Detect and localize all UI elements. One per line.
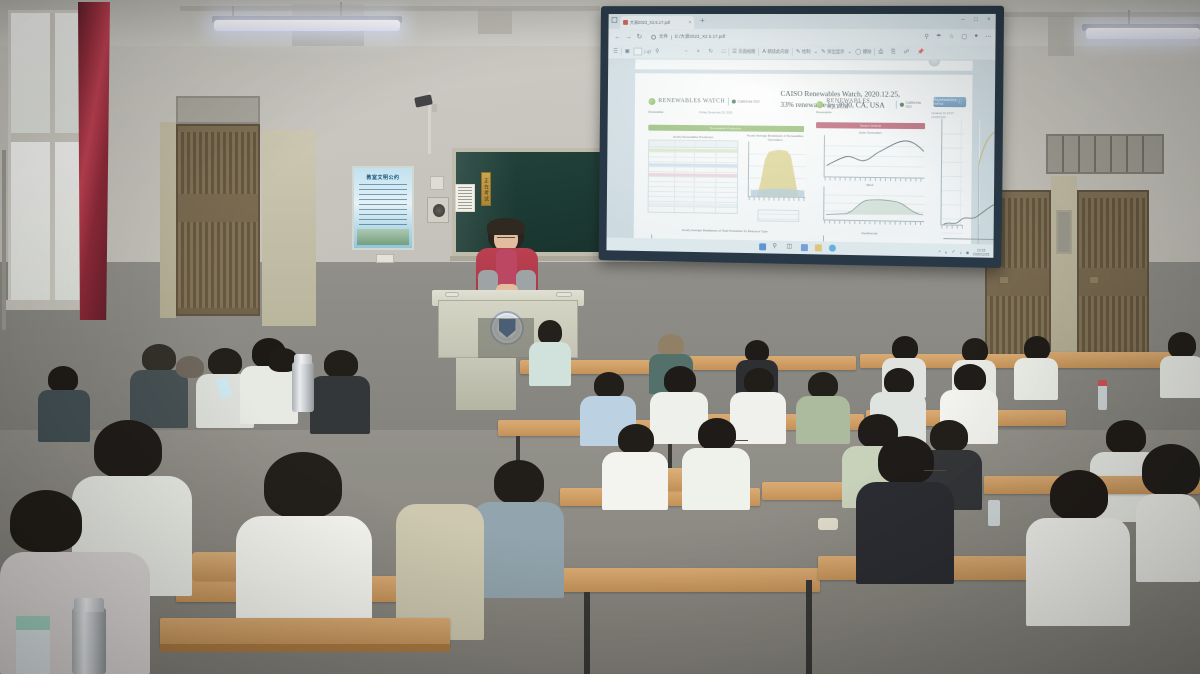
ceiling-beam-left — [180, 6, 600, 11]
student-row3-1 — [602, 424, 668, 504]
renewables-watch-header-mid: RENEWABLES WATCH California ISO — [816, 98, 927, 111]
transom-bar-3 — [1094, 136, 1096, 172]
toolbar-item-draw-label: 绘制 — [802, 49, 811, 55]
zoom-icon[interactable]: ⚲ — [924, 33, 929, 40]
page-total-label: / 47 — [644, 49, 651, 54]
report-panel-left: RENEWABLES WATCH California ISO Renewabl… — [641, 97, 808, 239]
back-arrow-icon[interactable]: ← — [614, 34, 621, 41]
student-hair — [892, 336, 918, 360]
panel-mid-band: Today's Outlook — [816, 122, 925, 129]
renewables-generation-chart — [748, 141, 806, 198]
header-divider-mid — [896, 101, 897, 109]
poster-title: 教室文明公约 — [354, 174, 412, 181]
exam-plaque-label: 正在考试 — [482, 173, 490, 205]
student-hair — [48, 366, 78, 392]
solar-generation-chart — [824, 135, 925, 178]
right-door-center-pillar — [1051, 176, 1077, 362]
zoom-out-icon[interactable]: − — [684, 49, 687, 55]
podium-control-button[interactable] — [445, 292, 459, 297]
desk-row4-mid — [560, 568, 820, 592]
network-icon[interactable]: ◐ — [945, 249, 948, 254]
report-panel-right: ‹ Renewables trend ⓘ Updated 10:15:07 12… — [930, 119, 968, 242]
student-glasses — [924, 470, 946, 473]
water-bottle — [1098, 384, 1107, 410]
panel-left-paragraph-2 — [648, 119, 804, 124]
right-door-right-slats-upper — [1079, 198, 1147, 268]
student-shirt — [1160, 356, 1200, 398]
student-row4-4 — [1136, 444, 1200, 574]
speaker-cone — [433, 204, 445, 217]
student-hair — [808, 372, 838, 398]
student-hair — [594, 372, 624, 398]
student-row4-2 — [856, 436, 954, 576]
student-hair — [494, 460, 544, 504]
hourly-renewables-table — [648, 139, 739, 214]
address-separator: | — [671, 34, 672, 39]
reload-icon[interactable]: ↻ — [637, 34, 643, 41]
panel-left-summary-table — [757, 209, 799, 222]
student-hair — [1142, 444, 1200, 496]
student-hair — [94, 420, 162, 478]
projection-screen[interactable]: 大源2023_X2.5.17.pdf × + – □ × ← → ↻ 文件 | — [606, 14, 995, 258]
transom-bar-1 — [1062, 136, 1064, 172]
erase-icon: ◯ — [855, 49, 861, 55]
leaf-icon — [816, 101, 823, 108]
mint-bottle — [16, 626, 50, 674]
panel-left-table-footnote-2 — [647, 218, 737, 223]
student-hair — [962, 338, 988, 362]
toolbar-item-page-view-label: 页面视图 — [738, 49, 755, 55]
toolbar-item-highlight[interactable]: ✎ 突出显示 — [821, 49, 844, 55]
panel-left-date: Friday, December 25, 2020 — [699, 110, 732, 114]
toolbar-item-draw[interactable]: ✎ 绘制 — [796, 49, 811, 55]
student-hair — [744, 368, 774, 394]
wall-notice — [455, 184, 475, 212]
battery-icon[interactable]: ■ — [966, 250, 969, 255]
student-shirt — [1014, 358, 1058, 400]
student-shirt — [602, 452, 668, 510]
camera-mount — [432, 104, 437, 112]
more-icon[interactable]: ⋯ — [985, 33, 991, 40]
wall-notice-lines — [458, 187, 472, 209]
print-icon[interactable]: ⎙ — [879, 49, 884, 56]
toolbar-item-erase-label: 擦除 — [863, 49, 872, 55]
share-icon[interactable]: ☍ — [904, 49, 910, 55]
exam-plaque: 正在考试 — [481, 172, 491, 206]
student-front-1 — [236, 452, 372, 638]
trend-updated-label: Updated 10:15:07 12/25/2020 — [931, 111, 962, 119]
new-tab-icon[interactable]: + — [700, 17, 705, 25]
report-operator-mid: California ISO — [900, 101, 928, 109]
student-shirt — [529, 342, 571, 386]
student-hair — [954, 364, 986, 392]
panel-left-band-label: Renewables Production — [710, 126, 741, 130]
toolbar-item-page-view[interactable]: ☰ 页面视图 — [732, 49, 755, 55]
system-tray: ^ ◐ ✓ ♪ ■ 10:15 2020/12/25 — [939, 248, 990, 257]
thermos-flask-front — [72, 608, 106, 674]
student-hair — [538, 320, 562, 344]
wall-switch[interactable] — [430, 176, 444, 190]
window-controls: – □ × — [961, 17, 990, 23]
explorer-icon[interactable] — [800, 244, 807, 251]
chevron-up-icon[interactable]: ^ — [939, 249, 941, 254]
search-icon[interactable]: ⚲ — [773, 244, 780, 251]
student-backleft-5 — [310, 350, 370, 430]
renewables-watch-header-left: RENEWABLES WATCH California ISO — [649, 97, 760, 106]
renewables-trend-band: ‹ Renewables trend ⓘ — [933, 97, 966, 107]
panel-left-band: Renewables Production — [648, 125, 804, 132]
student-hair — [10, 490, 82, 552]
address-path: E:/大源2023_X2.5.17.pdf — [675, 34, 725, 40]
student-hair — [618, 424, 654, 454]
desk-tissue — [818, 518, 838, 530]
page-view-icon: ☰ — [732, 49, 737, 55]
leaf-icon — [649, 98, 656, 105]
report-operator-left-label: California ISO — [737, 100, 759, 104]
solar-x-ticks — [825, 176, 925, 181]
draw-icon: ✎ — [796, 49, 801, 55]
pdf-favicon — [623, 20, 628, 25]
poster-text-lines — [359, 184, 407, 226]
left-transom — [176, 96, 260, 124]
student-hair — [176, 356, 204, 378]
report-brand-left: RENEWABLES WATCH — [658, 98, 725, 104]
volume-icon[interactable]: ♪ — [960, 250, 962, 255]
transom-bar-5 — [1126, 136, 1128, 172]
student-row3-2 — [682, 418, 750, 504]
browser-icon[interactable] — [828, 245, 835, 252]
ceiling-fluorescent-right — [1086, 28, 1200, 39]
desk-leg — [806, 580, 812, 674]
minimize-icon[interactable]: – — [961, 17, 964, 23]
highlight-icon: ✎ — [821, 49, 826, 55]
folder-icon[interactable] — [814, 244, 821, 251]
lecturer-fringe — [487, 218, 525, 235]
left-wall-column — [262, 130, 316, 326]
student-hair — [884, 368, 914, 394]
ceiling-patch-right — [1048, 16, 1074, 56]
left-door-frame — [160, 122, 176, 318]
student-hair — [745, 340, 769, 362]
clock-date: 2020/12/25 — [973, 252, 989, 256]
renewables-generation-series — [749, 142, 807, 199]
highlight-color-chevron-down-icon[interactable]: ⌄ — [847, 49, 852, 55]
right-transom-window — [1046, 134, 1164, 174]
right-door-left-handle[interactable] — [999, 276, 1009, 284]
browser-system-icon — [611, 17, 617, 23]
close-tab-icon[interactable]: × — [688, 19, 691, 25]
pdf-toolbar: ☰ ▣ / 47 ⚲ − + ↻ □ ☰ 页面视图 — [608, 45, 995, 61]
left-door-slats-lower — [178, 222, 258, 308]
student-row1-7 — [1160, 332, 1200, 390]
student-shirt — [1136, 494, 1200, 582]
student-hair — [264, 452, 342, 518]
trend-x-ticks — [941, 224, 963, 228]
thumbnail-icon[interactable]: ▣ — [625, 49, 630, 55]
browser-tab-bar: 大源2023_X2.5.17.pdf × + – □ × — [609, 14, 996, 29]
transom-bar-2 — [1078, 136, 1080, 172]
lecture-hall-scene: 教室文明公约 正在考试 — [0, 0, 1200, 674]
student-row4-1 — [472, 460, 564, 590]
address-scheme: 文件 — [659, 34, 668, 40]
wall-speaker — [427, 197, 449, 223]
student-hair — [878, 436, 934, 484]
poster-photo — [357, 229, 409, 245]
right-door-right-slats-lower — [1079, 296, 1147, 358]
caiso-icon — [732, 100, 736, 104]
favorite-icon[interactable]: ☆ — [949, 33, 955, 40]
read-aloud-icon: A — [762, 49, 766, 55]
header-divider-left — [728, 98, 729, 106]
panel-mid-band-label: Today's Outlook — [860, 124, 881, 128]
right-door-pillar-window — [1056, 210, 1072, 254]
profile-icon[interactable]: ● — [974, 33, 978, 40]
save-icon[interactable]: ⎘ — [891, 49, 896, 56]
right-door-right-handle[interactable] — [1089, 276, 1099, 284]
ceiling-fluorescent-left — [214, 20, 400, 31]
close-window-icon[interactable]: × — [987, 17, 991, 23]
draw-color-chevron-down-icon[interactable]: ⌄ — [813, 49, 818, 55]
caiso-icon — [900, 103, 904, 107]
wind-chart — [823, 186, 924, 222]
transom-bar-6 — [1142, 136, 1144, 172]
student-backleft-7 — [168, 356, 216, 400]
lecturer-inner-top — [496, 249, 517, 289]
pdf-previous-page — [635, 59, 972, 70]
curtain-pole — [2, 150, 6, 330]
left-door[interactable] — [176, 124, 260, 316]
translate-icon[interactable]: ☂ — [936, 33, 942, 40]
panel-left-area-title: Hourly Average Breakdown of Total Produc… — [647, 227, 803, 234]
forward-arrow-icon[interactable]: → — [625, 34, 632, 41]
window-curtain — [78, 2, 110, 320]
address-bar[interactable]: 文件 | E:/大源2023_X2.5.17.pdf — [651, 32, 920, 42]
podium-base — [456, 358, 516, 410]
ceiling-beam-right — [1000, 12, 1200, 17]
toolbar-item-read-aloud-label: 朗读此内容 — [767, 49, 788, 55]
fit-page-icon[interactable]: □ — [722, 49, 725, 55]
podium-shelf-shadow — [478, 318, 534, 358]
classroom-poster: 教室文明公约 — [352, 166, 414, 250]
taskbar-clock[interactable]: 10:15 2020/12/25 — [973, 248, 989, 256]
pin-icon[interactable]: 📌 — [917, 49, 924, 55]
window-mullion-v — [50, 13, 55, 307]
transom-bar-4 — [1110, 136, 1112, 172]
start-icon[interactable] — [759, 243, 766, 250]
desk-bottle-row3 — [988, 500, 1000, 526]
maximize-icon[interactable]: □ — [974, 17, 978, 23]
water-bottle-cap — [1098, 380, 1107, 386]
report-brand-mid: RENEWABLES WATCH — [826, 98, 893, 111]
nav-right-icons: ⚲ ☂ ☆ ▢ ● ⋯ — [924, 33, 991, 40]
student-hair — [1050, 470, 1108, 520]
light-rod-right — [1128, 10, 1130, 24]
student-shirt — [1026, 518, 1130, 626]
toolbar-item-read-aloud[interactable]: A 朗读此内容 — [762, 49, 789, 55]
student-shirt — [682, 448, 750, 510]
collections-icon[interactable]: ▢ — [961, 33, 967, 40]
trend-prev-chevron-icon[interactable]: ‹ — [937, 99, 939, 105]
browser-nav-bar: ← → ↻ 文件 | E:/大源2023_X2.5.17.pdf ⚲ ☂ ☆ ▢… — [608, 29, 995, 46]
student-front-4 — [396, 480, 484, 640]
podium-paper — [556, 292, 572, 297]
wind-legend — [815, 224, 924, 230]
student-row4-3 — [1026, 470, 1130, 620]
student-shirt — [472, 502, 564, 598]
desk-front-left-edge — [160, 644, 450, 652]
mint-bottle-cap — [16, 616, 50, 630]
student-row1-1 — [527, 320, 573, 380]
desk-leg — [584, 592, 590, 674]
panel-left-header-label: Renewables — [648, 110, 663, 114]
student-hair — [664, 366, 696, 394]
toolbar-item-highlight-label: 突出显示 — [827, 49, 844, 55]
ceiling-patch-mid — [478, 8, 512, 34]
task-view-icon[interactable]: ◫ — [786, 244, 793, 251]
student-glasses — [734, 440, 748, 443]
student-shirt — [856, 482, 954, 584]
sidebar-toggle-icon[interactable]: ☰ — [613, 49, 618, 55]
solar-series — [825, 135, 926, 178]
pdf-viewport[interactable]: CAISO Renewables Watch, 2020.12.25, 33% … — [607, 59, 996, 244]
chart-x-ticks — [749, 196, 806, 201]
student-hair — [324, 350, 358, 378]
wind-series — [824, 186, 925, 222]
pen-icon[interactable]: ✓ — [952, 249, 956, 255]
panel-left-chart-note — [744, 201, 806, 205]
find-icon[interactable]: ⚲ — [655, 49, 659, 55]
trend-info-icon[interactable]: ⓘ — [958, 99, 962, 105]
pdf-prev-seal — [929, 59, 940, 66]
right-door-right-leaf[interactable] — [1077, 190, 1149, 362]
page-number-input[interactable] — [634, 48, 643, 56]
student-row1-6 — [1012, 336, 1060, 392]
panel-mid-header-label: Renewables — [816, 110, 831, 114]
student-hair — [698, 418, 736, 450]
thermos-cap-front — [74, 598, 104, 612]
file-info-icon — [651, 34, 656, 39]
thermos-cap-back — [294, 354, 312, 364]
renewables-trend-chart — [940, 119, 964, 226]
student-hair — [658, 334, 684, 356]
table-total-row — [649, 203, 737, 208]
power-socket[interactable] — [376, 254, 394, 263]
report-operator-mid-label: California ISO — [905, 101, 927, 109]
left-door-slats-upper — [178, 132, 258, 194]
browser-tab[interactable]: 大源2023_X2.5.17.pdf × — [620, 16, 694, 29]
lecturer-glasses — [497, 237, 515, 240]
report-operator-left: California ISO — [732, 100, 760, 104]
zoom-in-icon[interactable]: + — [696, 49, 699, 55]
student-shirt — [310, 376, 370, 434]
student-hair — [1168, 332, 1196, 358]
toolbar-item-erase[interactable]: ◯ 擦除 — [855, 49, 871, 55]
rotate-icon[interactable]: ↻ — [708, 49, 713, 55]
thermos-flask-back — [292, 362, 314, 412]
browser-tab-title: 大源2023_X2.5.17.pdf — [630, 19, 670, 25]
projection-screen-frame: 大源2023_X2.5.17.pdf × + – □ × ← → ↻ 文件 | — [599, 6, 1004, 268]
student-hair — [1024, 336, 1050, 360]
panel-mid-paragraph — [816, 115, 925, 119]
report-panel-middle: RENEWABLES WATCH California ISO Renewabl… — [813, 118, 927, 241]
pdf-current-page: CAISO Renewables Watch, 2020.12.25, 33% … — [634, 73, 973, 244]
